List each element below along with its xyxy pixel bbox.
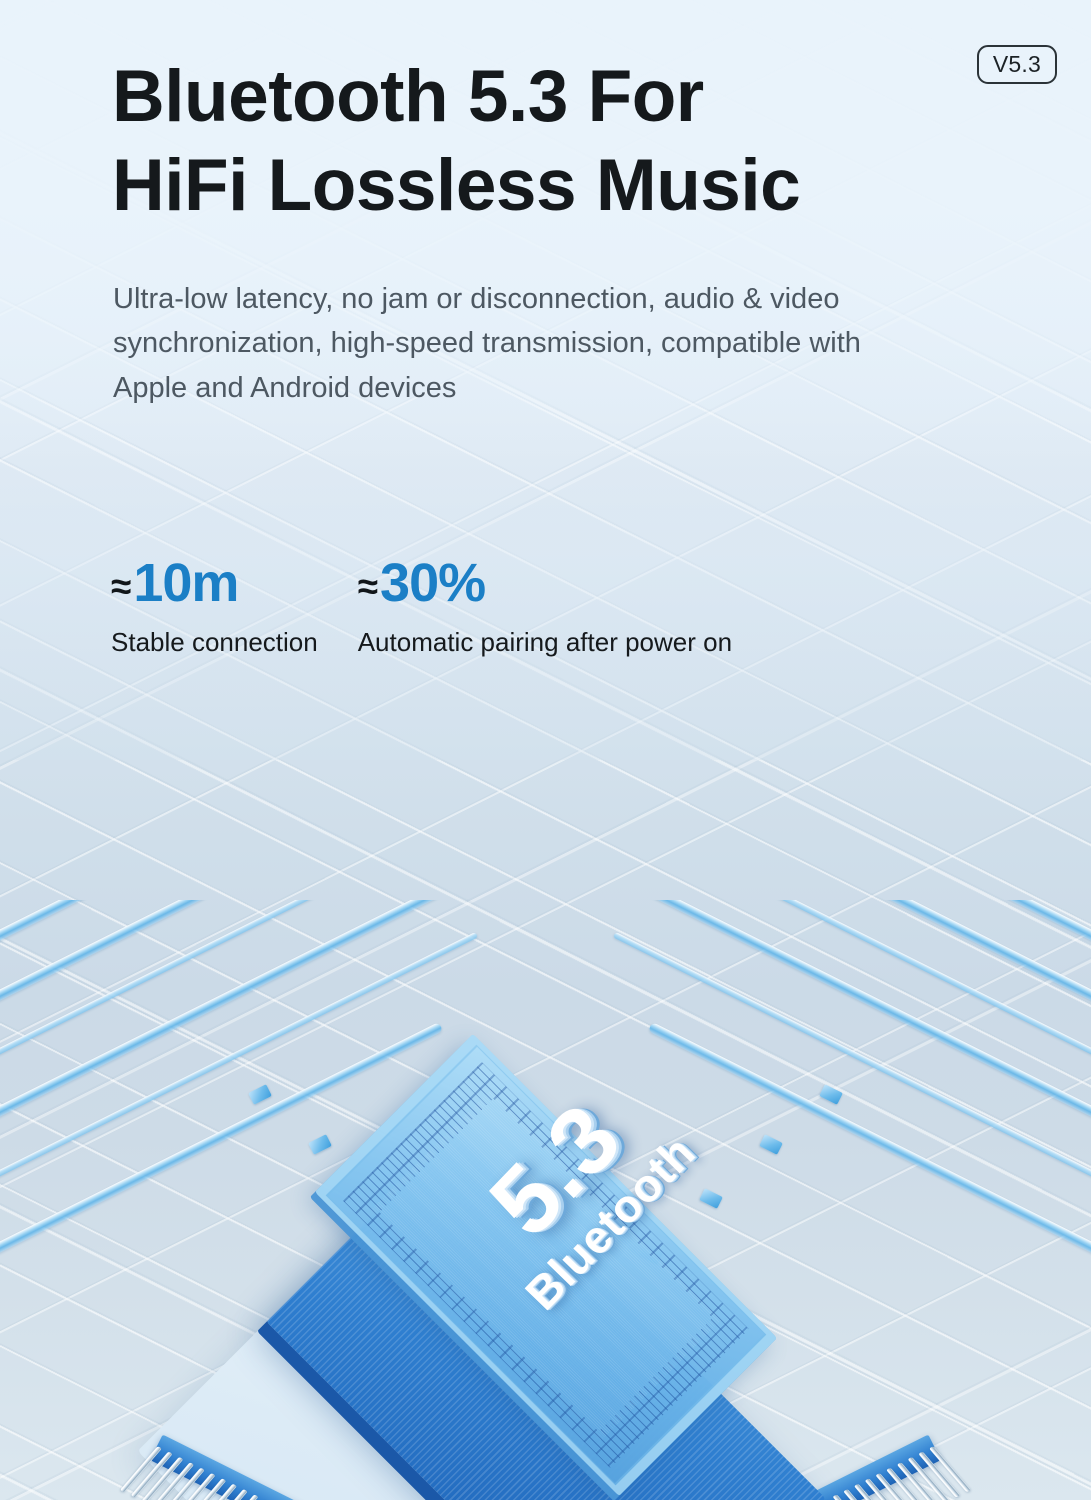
bus-connector-right-1 <box>819 1084 843 1105</box>
bus-trace-right-3 <box>577 900 1091 1084</box>
bus-trace-right-4 <box>594 900 1091 1145</box>
approx-symbol-icon: ≈ <box>111 568 130 605</box>
product-feature-banner: 5.3 Bluetooth V5.3 Bluetooth 5.3 For HiF… <box>0 0 1091 1500</box>
stats-row: ≈10m Stable connection ≈30% Automatic pa… <box>111 556 732 658</box>
bluetooth-chip-illustration <box>0 900 1091 1500</box>
stat-pairing-number: 30% <box>380 553 485 613</box>
subtitle-text: Ultra-low latency, no jam or disconnecti… <box>113 277 913 410</box>
bus-trace-left-3 <box>0 900 514 1084</box>
stat-range-number: 10m <box>133 553 238 613</box>
approx-symbol-icon: ≈ <box>358 568 377 605</box>
stat-pairing-label: Automatic pairing after power on <box>358 627 732 658</box>
stat-range-value: ≈10m <box>111 556 318 610</box>
page-title: Bluetooth 5.3 For HiFi Lossless Music <box>112 52 972 230</box>
bus-connector-left-2 <box>308 1134 332 1155</box>
stat-range: ≈10m Stable connection <box>111 556 318 658</box>
bus-connector-right-3 <box>699 1188 723 1209</box>
headline-line-1: Bluetooth 5.3 For <box>112 52 972 141</box>
version-badge: V5.3 <box>977 45 1057 84</box>
bus-connector-left-1 <box>248 1084 272 1105</box>
bus-connector-right-2 <box>759 1134 783 1155</box>
headline-line-2: HiFi Lossless Music <box>112 141 972 230</box>
stat-pairing: ≈30% Automatic pairing after power on <box>358 556 732 658</box>
stat-pairing-value: ≈30% <box>358 556 732 610</box>
stat-range-label: Stable connection <box>111 627 318 658</box>
